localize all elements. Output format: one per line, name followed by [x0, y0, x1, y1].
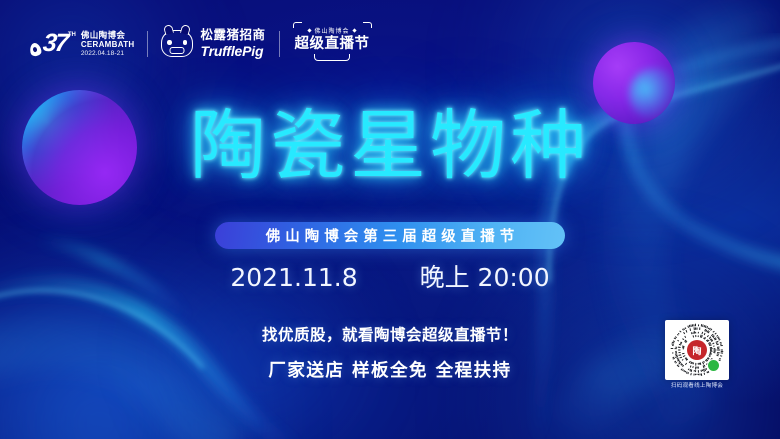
water-drop-icon: [29, 42, 42, 57]
diamond-right-icon: [352, 29, 356, 33]
cerambath-mark-icon: 37 TH: [30, 31, 76, 56]
wechat-badge-icon: [707, 359, 720, 372]
cerambath-edition-number: 37: [42, 31, 68, 56]
cerambath-dates: 2022.04.18-21: [81, 50, 135, 57]
superlive-top-cn: 佛山陶博会: [314, 26, 349, 35]
superlive-top-row: 佛山陶博会: [308, 26, 355, 35]
diamond-left-icon: [308, 29, 312, 33]
bracket-bottom-icon: [314, 54, 350, 61]
main-title: 陶瓷星物种: [0, 108, 780, 184]
pig-eye-left-icon: [167, 40, 172, 45]
tagline-secondary: 厂家送店 样板全免 全程扶持: [0, 363, 780, 381]
header-logo-bar: 37 TH 佛山陶博会 CERAMBATH 2022.04.18-21 松露猪招…: [30, 25, 372, 63]
event-date: 2021.11.8: [230, 263, 357, 292]
bracket-top-right-icon: [363, 22, 372, 28]
tagline-primary: 找优质股，就看陶博会超级直播节！: [0, 328, 780, 344]
trufflepig-name-en: TrufflePig: [200, 44, 265, 59]
logo-divider-2: [279, 31, 280, 57]
cerambath-ordinal: TH: [68, 32, 76, 38]
logo-divider-1: [147, 31, 148, 57]
tagline-block: 找优质股，就看陶博会超级直播节！ 厂家送店 样板全免 全程扶持: [0, 328, 780, 380]
trufflepig-name-cn: 松露猪招商: [200, 29, 265, 43]
event-time: 晚上 20:00: [420, 258, 550, 294]
pig-eye-right-icon: [183, 40, 188, 45]
qr-code-caption: 扫码观看线上陶博会: [665, 383, 729, 390]
subtitle-text: 佛山陶博会第三届超级直播节: [261, 225, 520, 246]
logo-cerambath: 37 TH 佛山陶博会 CERAMBATH 2022.04.18-21: [30, 31, 134, 57]
poster-canvas: 37 TH 佛山陶博会 CERAMBATH 2022.04.18-21 松露猪招…: [0, 0, 780, 439]
qr-code-block[interactable]: 陶 扫码观看线上陶博会: [665, 320, 729, 390]
superlive-badge: 佛山陶博会 超级直播节: [293, 22, 372, 66]
subtitle-bar: 佛山陶博会第三届超级直播节: [215, 222, 565, 249]
pig-face-icon: [161, 30, 193, 57]
event-datetime: 2021.11.8 晚上 20:00: [0, 258, 780, 294]
qr-code-center-logo: 陶: [687, 340, 707, 360]
qr-code-card[interactable]: 陶: [665, 320, 729, 380]
pig-snout-icon: [170, 47, 185, 54]
logo-superlive: 佛山陶博会 超级直播节: [293, 22, 372, 66]
logo-trufflepig: 松露猪招商 TrufflePig: [161, 29, 265, 59]
trufflepig-text-block: 松露猪招商 TrufflePig: [200, 29, 265, 59]
cerambath-text-block: 佛山陶博会 CERAMBATH 2022.04.18-21: [81, 31, 135, 57]
bracket-top-left-icon: [293, 22, 302, 28]
superlive-name-cn: 超级直播节: [295, 37, 370, 52]
cerambath-name-en: CERAMBATH: [81, 41, 135, 50]
